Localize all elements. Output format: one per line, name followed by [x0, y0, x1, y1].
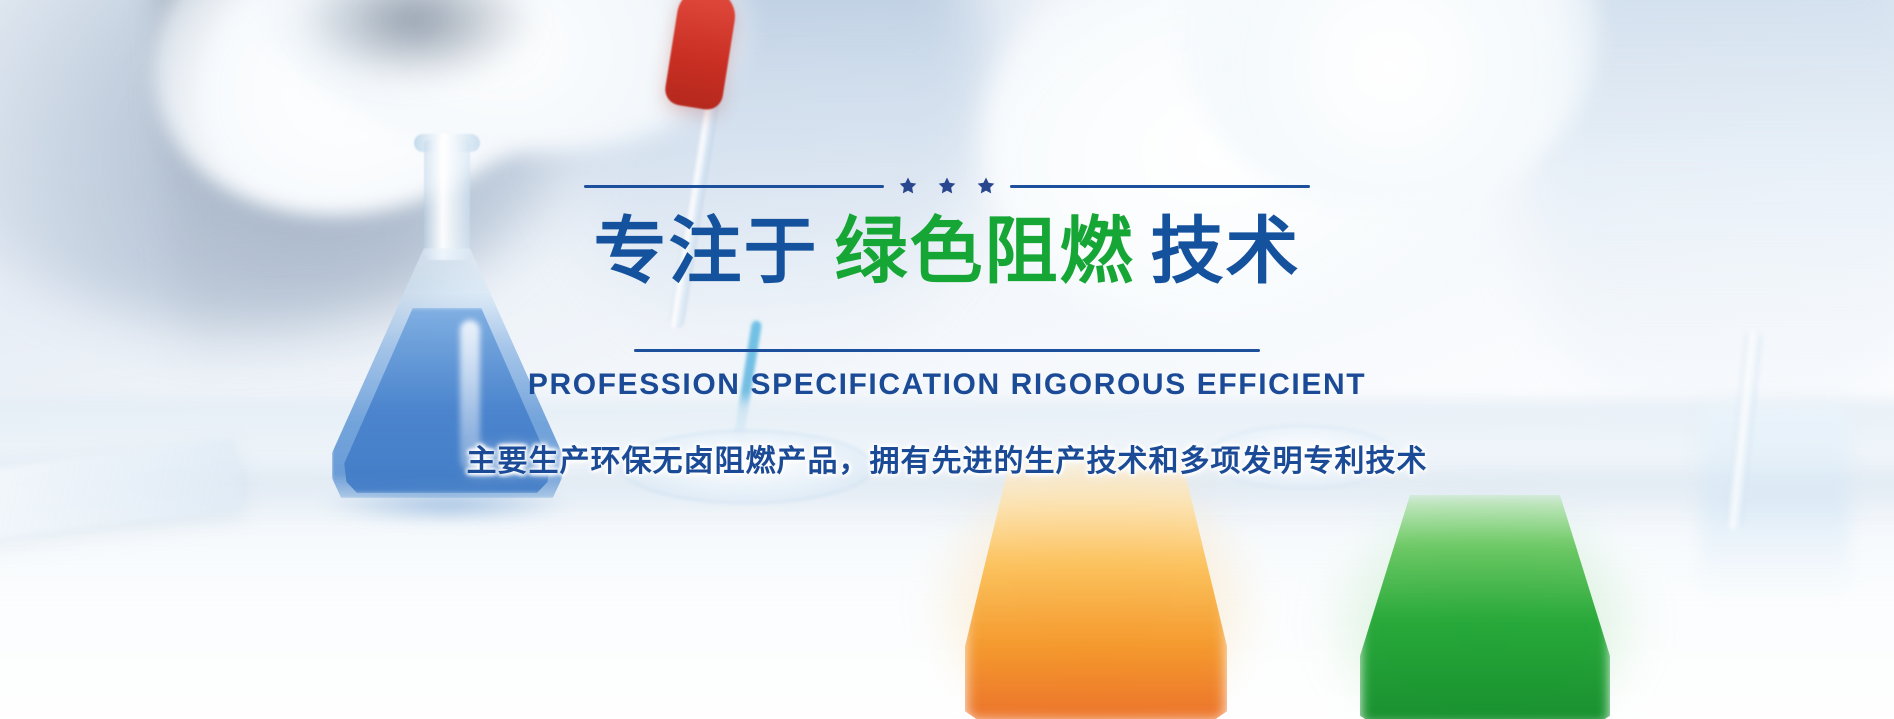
headline-part-focus: 专注于 [594, 214, 819, 290]
star-icon [976, 176, 996, 196]
banner-content: 专注于 绿色阻燃 技术 PROFESSION SPECIFICATION RIG… [0, 0, 1894, 719]
headline-underline [634, 349, 1260, 352]
headline-part-technology: 技术 [1151, 214, 1301, 290]
headline-part-green-flame-retardant: 绿色阻燃 [835, 214, 1135, 290]
banner-subtitle: PROFESSION SPECIFICATION RIGOROUS EFFICI… [528, 368, 1366, 402]
star-icon [898, 176, 918, 196]
hero-banner: 专注于 绿色阻燃 技术 PROFESSION SPECIFICATION RIG… [0, 0, 1894, 719]
banner-headline: 专注于 绿色阻燃 技术 [594, 214, 1301, 290]
star-group [898, 176, 996, 196]
banner-tagline: 主要生产环保无卤阻燃产品，拥有先进的生产技术和多项发明专利技术 [467, 436, 1428, 480]
decorative-rule-right [1010, 185, 1310, 188]
decorative-rule-left [584, 185, 884, 188]
star-icon [937, 176, 957, 196]
decorative-rule-row [584, 176, 1310, 196]
